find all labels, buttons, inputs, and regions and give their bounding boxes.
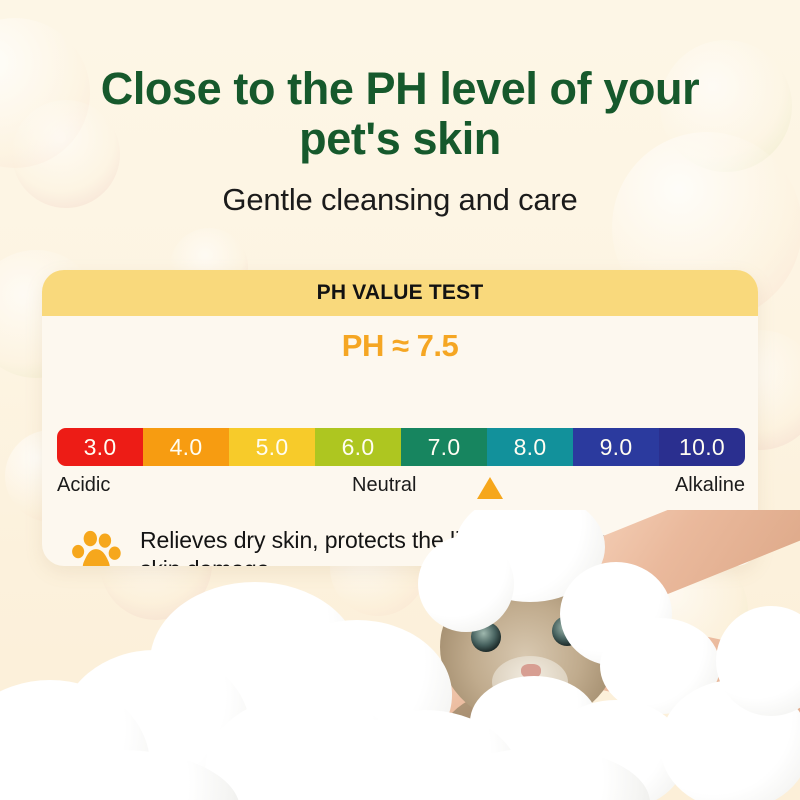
infographic-root: Close to the PH level of your pet's skin… xyxy=(0,0,800,800)
ph-segment-6.0: 6.0 xyxy=(315,428,401,466)
ph-segment-9.0: 9.0 xyxy=(573,428,659,466)
ph-segment-10.0: 10.0 xyxy=(659,428,745,466)
heading-block: Close to the PH level of your pet's skin… xyxy=(0,64,800,218)
ph-marker-triangle-icon xyxy=(477,477,503,499)
ph-scale-labels: Acidic Neutral Alkaline xyxy=(57,471,745,505)
scale-label-acidic: Acidic xyxy=(57,474,110,497)
page-subtitle: Gentle cleansing and care xyxy=(0,182,800,218)
ph-scale-bar: 3.04.05.06.07.08.09.010.0 xyxy=(57,428,745,466)
ph-segment-3.0: 3.0 xyxy=(57,428,143,466)
ph-segment-5.0: 5.0 xyxy=(229,428,315,466)
scale-label-alkaline: Alkaline xyxy=(675,474,745,497)
scale-label-neutral: Neutral xyxy=(352,474,416,497)
ph-readout-value: PH ≈ 7.5 xyxy=(42,328,758,364)
ph-segment-4.0: 4.0 xyxy=(143,428,229,466)
ph-segment-7.0: 7.0 xyxy=(401,428,487,466)
card-header-title: PH VALUE TEST xyxy=(317,281,484,305)
card-header: PH VALUE TEST xyxy=(42,270,758,316)
page-title: Close to the PH level of your pet's skin xyxy=(0,64,800,164)
ph-scale: 3.04.05.06.07.08.09.010.0 Acidic Neutral… xyxy=(57,428,745,505)
ph-segment-8.0: 8.0 xyxy=(487,428,573,466)
cat-bath-photo xyxy=(0,510,800,800)
foam-blob xyxy=(418,536,514,632)
